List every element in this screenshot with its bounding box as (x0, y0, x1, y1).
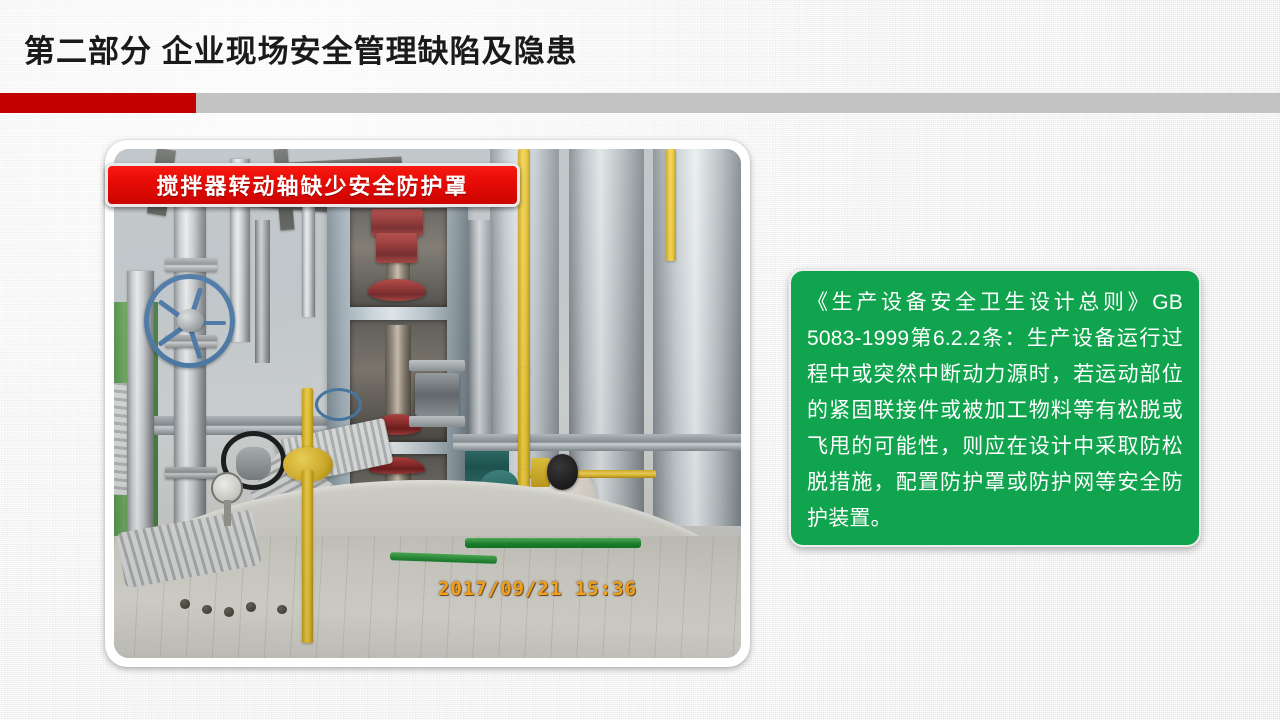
yellow-gas-pipe (518, 149, 530, 373)
yellow-gas-pipe (666, 149, 676, 261)
red-coupling (371, 209, 423, 235)
floor-bolt (202, 605, 212, 615)
floor-bolt (180, 599, 190, 609)
pipe-flange (165, 467, 216, 479)
red-coupling (376, 233, 417, 263)
control-valve (415, 373, 459, 416)
red-coupling (368, 279, 426, 301)
gas-valve (547, 454, 578, 490)
photo-caption-text: 搅拌器转动轴缺少安全防护罩 (156, 169, 468, 201)
butterfly-valve-body (236, 447, 270, 480)
valve-flange (409, 360, 465, 371)
small-blue-valve (315, 388, 362, 421)
floor-bolt (224, 607, 234, 617)
regulation-callout-box: 《生产设备安全卫生设计总则》GB 5083-1999第6.2.2条：生产设备运行… (789, 269, 1201, 547)
regulation-text: 《生产设备安全卫生设计总则》GB 5083-1999第6.2.2条：生产设备运行… (807, 285, 1183, 537)
gauge-stem (224, 500, 230, 525)
pipe-flange (165, 258, 216, 271)
page-title: 第二部分 企业现场安全管理缺陷及隐患 (24, 26, 578, 71)
photo-caption-banner: 搅拌器转动轴缺少安全防护罩 (105, 163, 520, 207)
floor-bolt (277, 605, 287, 615)
photo-frame (105, 140, 750, 667)
green-hose (465, 538, 641, 547)
handwheel-hub (177, 309, 204, 332)
pressure-gauge (211, 472, 242, 504)
vertical-pipe (255, 220, 270, 363)
floor-bolt (246, 602, 256, 612)
horizontal-pipe (453, 434, 741, 451)
valve-flange (409, 416, 465, 427)
yellow-gas-pipe (518, 368, 530, 475)
divider-bar-red (0, 93, 196, 113)
slide-canvas: 第二部分 企业现场安全管理缺陷及隐患 (0, 0, 1280, 720)
yellow-gas-pipe (302, 470, 313, 643)
site-photo (114, 149, 741, 658)
photo-timestamp: 2017/09/21 15:36 (438, 578, 637, 600)
